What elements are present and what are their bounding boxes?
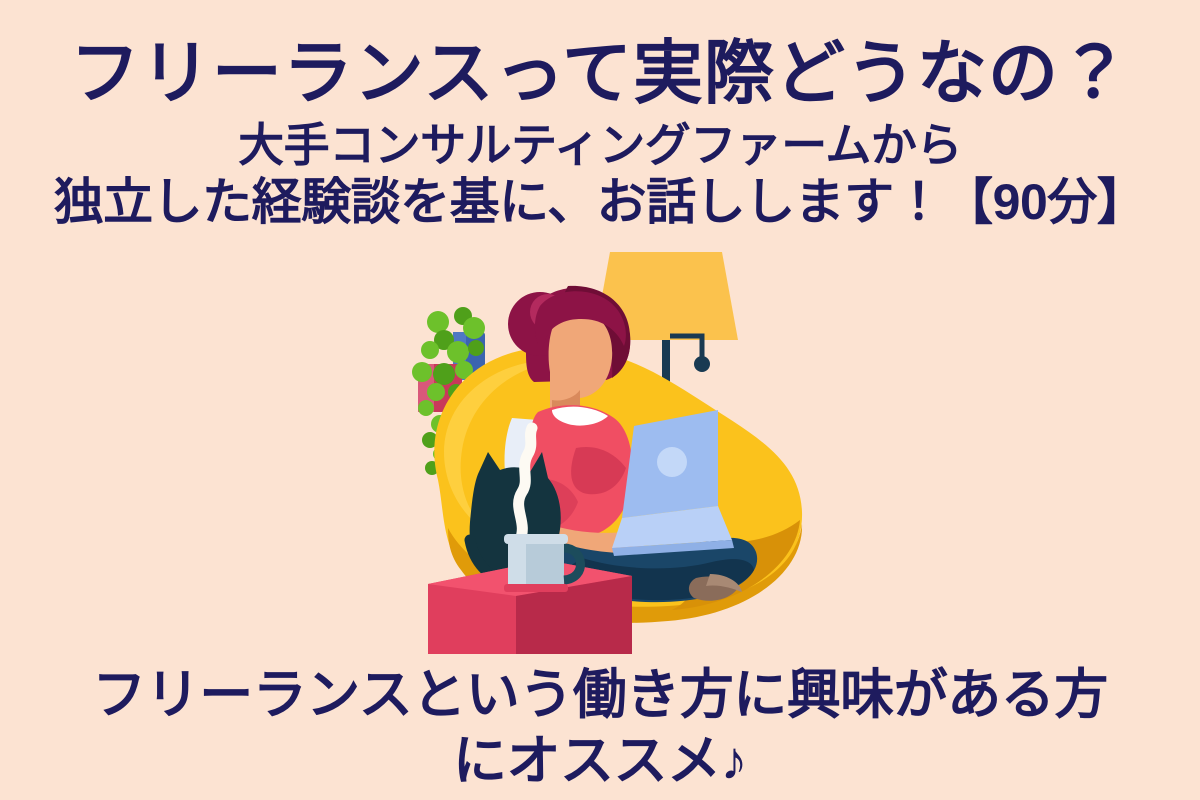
footer-text-line-2: にオススメ♪ (0, 731, 1200, 793)
headline-subtitle-line-1: 大手コンサルティングファームから (0, 118, 1200, 172)
illustration-svg (400, 240, 840, 670)
footer-block: フリーランスという働き方に興味がある方 にオススメ♪ (0, 665, 1200, 792)
headline-block: フリーランスって実際どうなの？ 大手コンサルティングファームから 独立した経験談… (0, 36, 1200, 231)
illustration-woman-working-from-home (400, 240, 840, 670)
banner-canvas: フリーランスって実際どうなの？ 大手コンサルティングファームから 独立した経験談… (0, 0, 1200, 800)
footer-text-line-1: フリーランスという働き方に興味がある方 (0, 665, 1200, 727)
page-title: フリーランスって実際どうなの？ (0, 36, 1200, 110)
headline-subtitle-line-2: 独立した経験談を基に、お話しします！【90分】 (0, 174, 1200, 231)
